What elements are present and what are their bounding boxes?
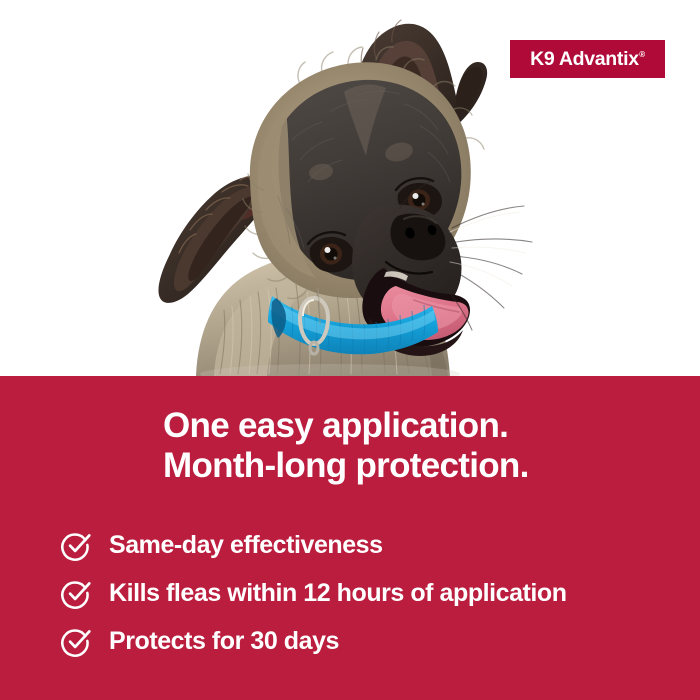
list-item: Protects for 30 days (61, 617, 681, 665)
registered-trademark-icon: ® (639, 50, 645, 59)
brand-logo[interactable]: K9 Advantix® (510, 40, 665, 78)
headline: One easy application. Month-long protect… (163, 406, 683, 486)
headline-line-1: One easy application. (163, 406, 683, 446)
list-item-label: Kills fleas within 12 hours of applicati… (109, 581, 567, 606)
list-item-label: Protects for 30 days (109, 629, 339, 654)
list-item-label: Same-day effectiveness (109, 533, 383, 558)
brand-logo-text: K9 Advantix® (530, 48, 645, 71)
product-ad-banner: K9 Advantix® One easy application. Month… (0, 0, 700, 700)
benefit-list: Same-day effectiveness Kills fleas withi… (61, 521, 681, 665)
brand-logo-name: K9 Advantix (530, 48, 639, 70)
headline-line-2: Month-long protection. (163, 446, 683, 486)
list-item: Same-day effectiveness (61, 521, 681, 569)
check-circle-icon (61, 626, 92, 657)
check-circle-icon (61, 578, 92, 609)
list-item: Kills fleas within 12 hours of applicati… (61, 569, 681, 617)
check-circle-icon (61, 530, 92, 561)
